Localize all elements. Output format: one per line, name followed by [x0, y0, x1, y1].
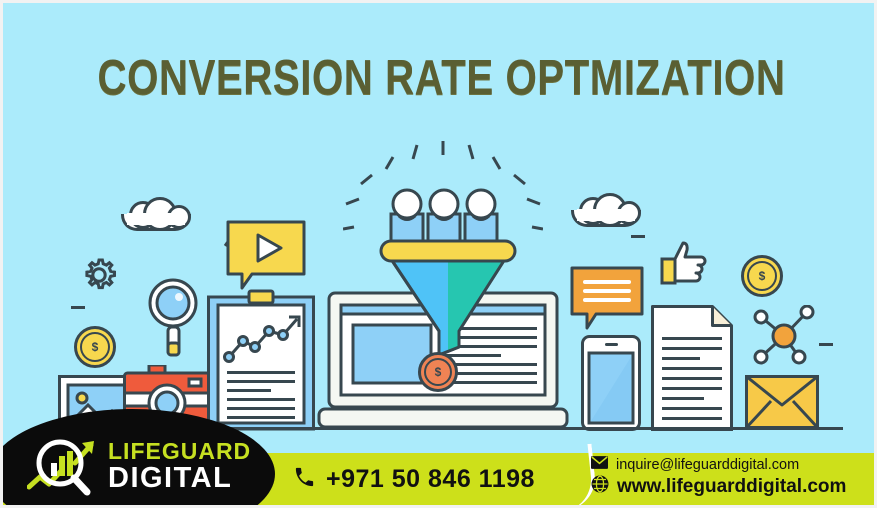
cloud-right	[571, 195, 641, 227]
video-bubble[interactable]	[225, 219, 307, 291]
contact-details: inquire@lifeguarddigital.com www.lifegua…	[591, 456, 846, 499]
email-address-text: inquire@lifeguarddigital.com	[616, 457, 799, 473]
coin-right: $	[741, 255, 783, 297]
phone-contact[interactable]: +971 50 846 1198	[293, 465, 535, 494]
envelope-icon	[591, 456, 608, 474]
chat-bubble[interactable]	[569, 265, 645, 333]
network-icon	[751, 305, 817, 367]
accent-dash	[819, 343, 833, 346]
coin-dollar-label: $	[424, 358, 452, 386]
coin-funnel: $	[418, 352, 458, 392]
coin-dollar-label: $	[747, 261, 777, 291]
accent-dash	[631, 235, 645, 238]
cloud-left	[121, 199, 191, 231]
website-contact[interactable]: www.lifeguarddigital.com	[591, 475, 846, 498]
logo-secondary-text: DIGITAL	[108, 464, 251, 493]
clipboard-chart	[207, 289, 315, 431]
phone-number-text: +971 50 846 1198	[326, 465, 535, 494]
funnel	[379, 235, 517, 365]
thumbs-up-icon	[660, 241, 708, 285]
logo-wordmark: LIFEGUARD DIGITAL	[108, 440, 251, 493]
gear-icon	[79, 255, 119, 295]
coin-dollar-label: $	[80, 332, 110, 362]
document	[651, 305, 733, 431]
globe-icon	[591, 475, 609, 498]
logo-primary-text: LIFEGUARD	[108, 440, 251, 463]
logo-magnifier-chart-icon	[27, 437, 105, 499]
envelope-icon	[745, 375, 819, 429]
email-contact[interactable]: inquire@lifeguarddigital.com	[591, 456, 846, 474]
smartphone	[581, 335, 641, 431]
website-url-text: www.lifeguarddigital.com	[617, 476, 846, 498]
accent-dash	[71, 306, 85, 309]
footer-divider	[524, 444, 598, 508]
magnifier-icon	[143, 275, 207, 361]
coin-left: $	[74, 326, 116, 368]
phone-icon	[293, 466, 316, 494]
page-title: CONVERSION RATE OPTMIZATION	[21, 49, 863, 106]
conversion-rate-banner: CONVERSION RATE OPTMIZATION $	[0, 0, 877, 508]
